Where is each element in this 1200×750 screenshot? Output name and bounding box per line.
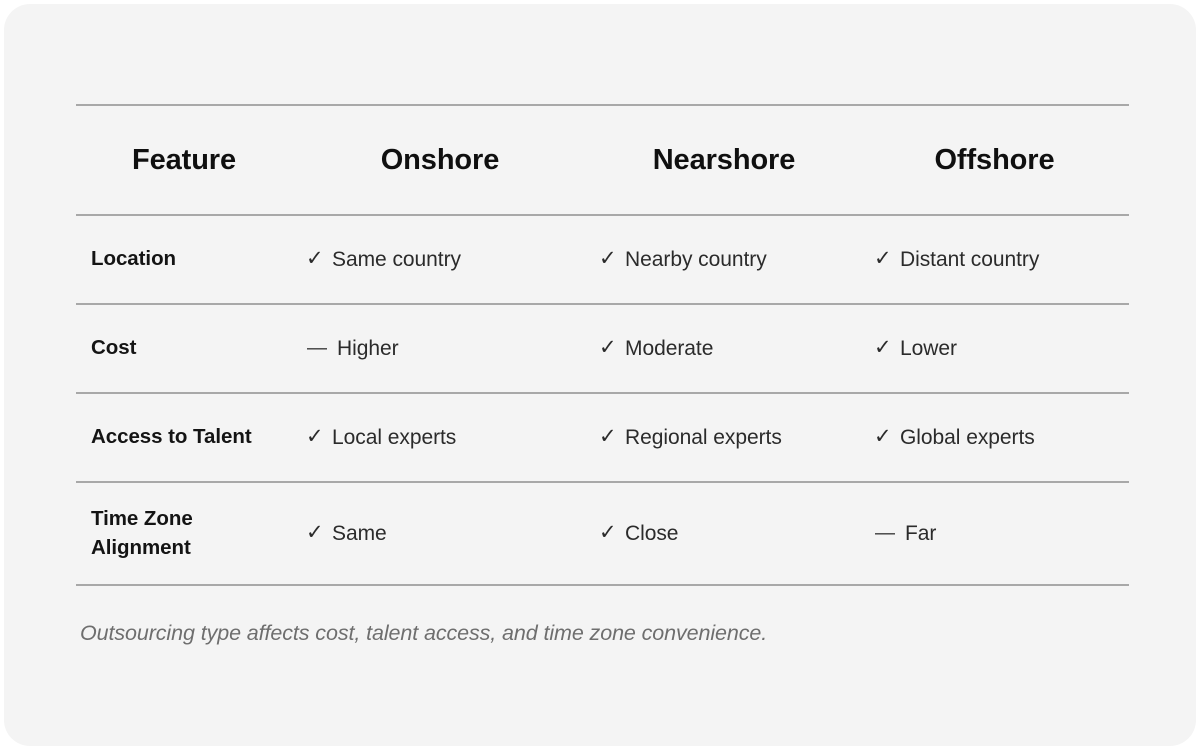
check-icon: ✓ (599, 248, 616, 269)
table-header-row: Feature Onshore Nearshore Offshore (76, 105, 1129, 215)
check-icon: ✓ (306, 426, 323, 447)
check-icon: ✓ (874, 426, 891, 447)
cell-value: Higher (337, 337, 399, 361)
cell-location-offshore: ✓ Distant country (860, 215, 1129, 304)
comparison-table-container: Feature Onshore Nearshore Offshore Locat… (76, 104, 1129, 586)
table-caption: Outsourcing type affects cost, talent ac… (80, 621, 767, 646)
cell-timezone-nearshore: ✓ Close (588, 482, 860, 585)
cell-talent-nearshore: ✓ Regional experts (588, 393, 860, 482)
check-icon: ✓ (599, 337, 616, 358)
dash-icon: — (874, 523, 896, 543)
table-row: Access to Talent ✓ Local experts ✓ Regio… (76, 393, 1129, 482)
check-icon: ✓ (306, 248, 323, 269)
table-body: Location ✓ Same country ✓ Nearby country (76, 215, 1129, 585)
column-header-onshore: Onshore (292, 105, 588, 215)
row-label-time-zone-alignment: Time Zone Alignment (76, 482, 292, 585)
dash-icon: — (306, 338, 328, 358)
cell-value: Lower (900, 337, 957, 361)
comparison-card: Feature Onshore Nearshore Offshore Locat… (4, 4, 1196, 746)
cell-value: Local experts (332, 426, 456, 450)
cell-value: Distant country (900, 248, 1039, 272)
cell-cost-nearshore: ✓ Moderate (588, 304, 860, 393)
cell-value: Moderate (625, 337, 713, 361)
cell-location-nearshore: ✓ Nearby country (588, 215, 860, 304)
row-label-cost: Cost (76, 304, 292, 393)
check-icon: ✓ (306, 522, 323, 543)
cell-timezone-offshore: — Far (860, 482, 1129, 585)
cell-value: Same (332, 522, 387, 546)
check-icon: ✓ (599, 426, 616, 447)
cell-timezone-onshore: ✓ Same (292, 482, 588, 585)
table-row: Location ✓ Same country ✓ Nearby country (76, 215, 1129, 304)
cell-location-onshore: ✓ Same country (292, 215, 588, 304)
cell-cost-offshore: ✓ Lower (860, 304, 1129, 393)
check-icon: ✓ (874, 248, 891, 269)
cell-talent-offshore: ✓ Global experts (860, 393, 1129, 482)
cell-value: Nearby country (625, 248, 767, 272)
cell-talent-onshore: ✓ Local experts (292, 393, 588, 482)
table-row: Cost — Higher ✓ Moderate (76, 304, 1129, 393)
cell-value: Far (905, 522, 936, 546)
cell-value: Same country (332, 248, 461, 272)
cell-cost-onshore: — Higher (292, 304, 588, 393)
cell-value: Global experts (900, 426, 1035, 450)
table-header: Feature Onshore Nearshore Offshore (76, 105, 1129, 215)
table-row: Time Zone Alignment ✓ Same ✓ Close (76, 482, 1129, 585)
check-icon: ✓ (874, 337, 891, 358)
check-icon: ✓ (599, 522, 616, 543)
row-label-access-to-talent: Access to Talent (76, 393, 292, 482)
cell-value: Close (625, 522, 678, 546)
row-label-location: Location (76, 215, 292, 304)
cell-value: Regional experts (625, 426, 782, 450)
comparison-table: Feature Onshore Nearshore Offshore Locat… (76, 104, 1129, 586)
column-header-feature: Feature (76, 105, 292, 215)
column-header-offshore: Offshore (860, 105, 1129, 215)
column-header-nearshore: Nearshore (588, 105, 860, 215)
